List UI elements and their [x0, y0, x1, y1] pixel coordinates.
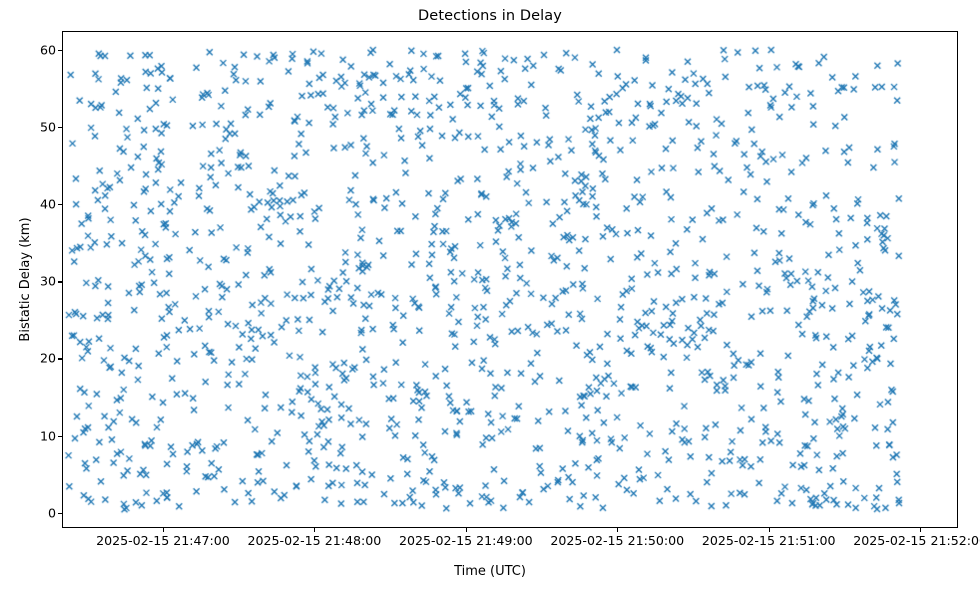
x-tick-mark	[617, 528, 618, 532]
x-tick-mark	[920, 528, 921, 532]
y-tick-mark	[58, 50, 62, 51]
x-tick-label: 2025-02-15 21:52:00	[810, 533, 980, 548]
x-tick-mark	[769, 528, 770, 532]
x-tick-mark	[314, 528, 315, 532]
y-tick-mark	[58, 127, 62, 128]
x-tick-mark	[466, 528, 467, 532]
x-axis-label: Time (UTC)	[0, 564, 980, 579]
y-tick-mark	[58, 281, 62, 282]
y-tick-mark	[58, 436, 62, 437]
page-title: Detections in Delay	[0, 8, 980, 24]
plot-axes	[62, 31, 958, 528]
y-axis-label: Bistatic Delay (km)	[18, 31, 36, 528]
y-tick-mark	[58, 513, 62, 514]
matplotlib-figure: Detections in Delay 0102030405060 2025-0…	[0, 0, 980, 590]
x-tick-mark	[163, 528, 164, 532]
scatter-plot-canvas	[63, 32, 957, 527]
y-tick-mark	[58, 204, 62, 205]
y-tick-mark	[58, 358, 62, 359]
